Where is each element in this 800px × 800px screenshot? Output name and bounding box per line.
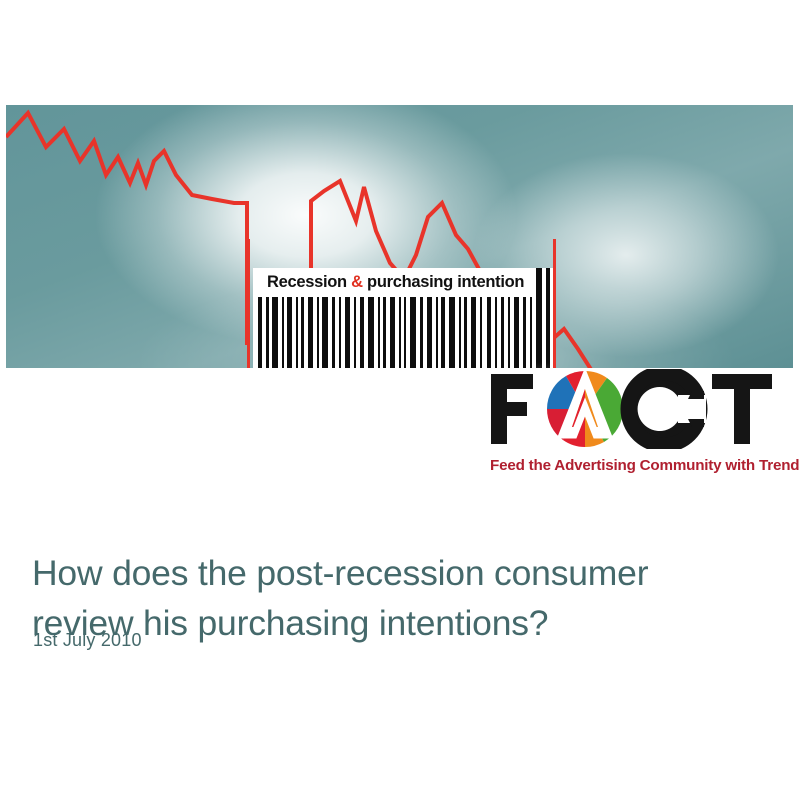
barcode-bars: [253, 297, 556, 368]
barcode-title-suffix: purchasing intention: [363, 273, 524, 291]
barcode-title-ampersand: &: [351, 273, 363, 291]
fact-logo-wordmark: [488, 369, 788, 449]
logo-letter-t: [712, 374, 772, 444]
logo-letter-f: [491, 374, 533, 444]
logo-letter-a-wheel: [547, 371, 623, 447]
page-title-line-1: How does the post-recession consumer: [32, 553, 648, 593]
barcode-red-stripe-left: [247, 239, 250, 368]
barcode-red-stripe-right: [553, 239, 556, 368]
hero-banner: Recession & purchasing intention: [6, 105, 793, 368]
barcode-graphic: Recession & purchasing intention: [253, 268, 556, 368]
fact-logo: Feed the Advertising Community with Tren…: [488, 369, 788, 479]
presentation-date: 1st July 2010: [33, 630, 142, 651]
barcode-title-prefix: Recession: [267, 273, 351, 291]
barcode-title: Recession & purchasing intention: [267, 273, 545, 292]
logo-letter-c: [625, 373, 706, 445]
logo-tagline: Feed the Advertising Community with Tren…: [490, 457, 788, 474]
trend-line-left: [6, 113, 247, 345]
